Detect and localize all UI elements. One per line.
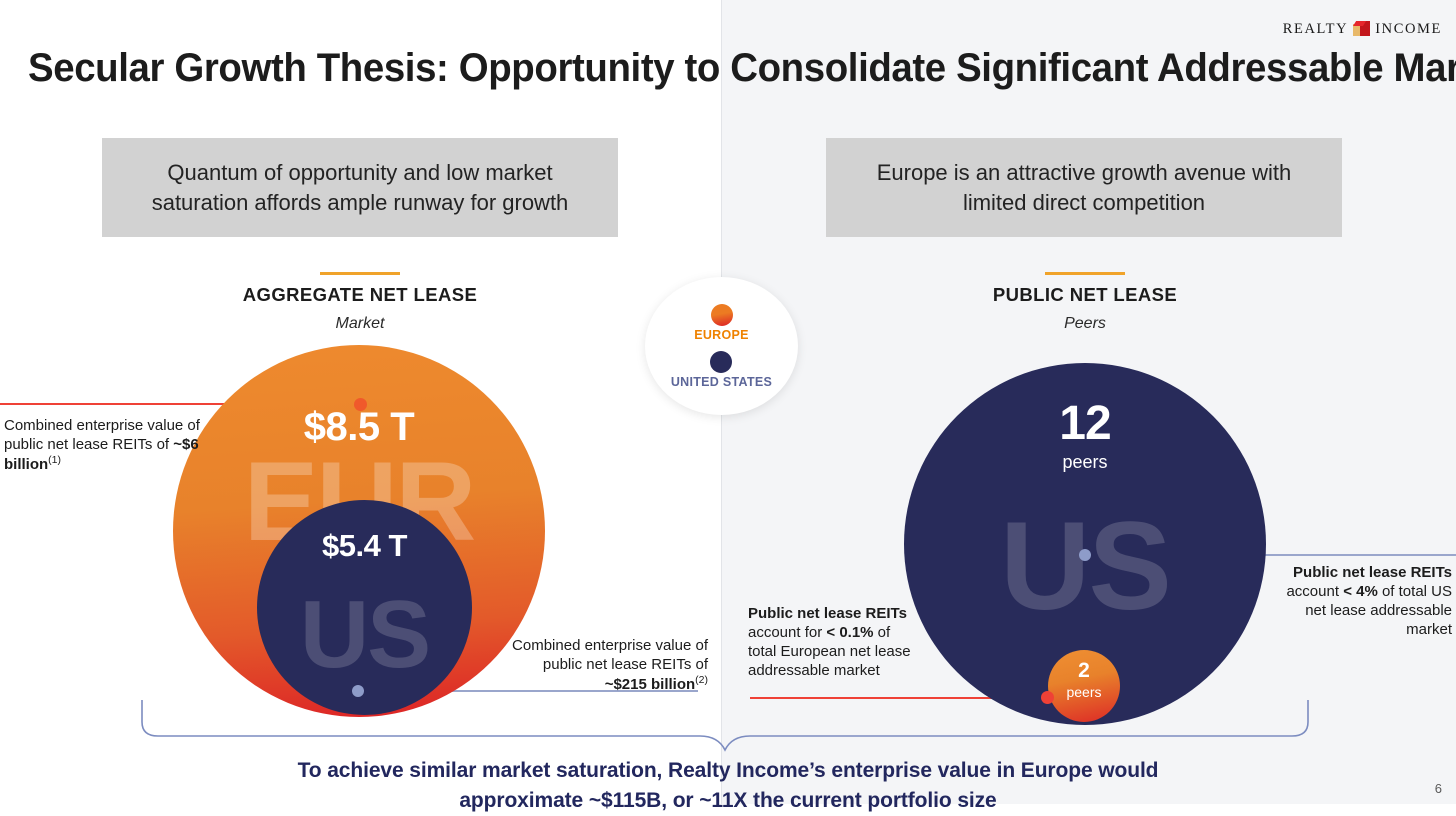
annotation-right-text-1: account: [1286, 583, 1343, 600]
annotation-bottom-left-bold: ~$215 billion: [605, 676, 695, 693]
leader-dot-top-left: [354, 398, 367, 411]
annotation-bottom-left-text: Combined enterprise value of public net …: [512, 637, 708, 673]
annotation-center-bold-2: < 0.1%: [826, 624, 873, 641]
legend-item-europe: EUROPE: [694, 304, 749, 342]
annotation-bottom-left: Combined enterprise value of public net …: [512, 636, 708, 694]
annotation-bottom-left-footnote: (2): [695, 674, 708, 686]
realty-income-logo[interactable]: REALTY INCOME: [1283, 21, 1442, 38]
annotation-right: Public net lease REITs account < 4% of t…: [1274, 563, 1452, 639]
section-subheading-left: Market: [160, 315, 560, 333]
annotation-right-bold-1: Public net lease REITs: [1293, 564, 1452, 581]
europe-peers-unit: peers: [1048, 684, 1120, 700]
europe-peers-count: 2: [1048, 659, 1120, 683]
annotation-top-left-text: Combined enterprise value of public net …: [4, 417, 200, 453]
legend-label-united-states: UNITED STATES: [671, 375, 772, 389]
europe-market-value: $8.5 T: [173, 405, 545, 450]
annotation-top-left-footnote: (1): [48, 454, 61, 466]
cube-icon: [1353, 21, 1370, 38]
section-rule-left: [320, 272, 400, 275]
callout-left: Quantum of opportunity and low market sa…: [102, 138, 618, 237]
annotation-center-bold-1: Public net lease REITs: [748, 605, 907, 622]
summary-bracket: [140, 700, 1310, 762]
section-heading-right: PUBLIC NET LEASE: [885, 284, 1285, 306]
us-peers-count: 12: [904, 396, 1266, 451]
logo-text-realty: REALTY: [1283, 21, 1348, 38]
annotation-right-bold-2: < 4%: [1343, 583, 1378, 600]
slide-canvas: REALTY INCOME Secular Growth Thesis: Opp…: [0, 0, 1456, 804]
conclusion-text: To achieve similar market saturation, Re…: [240, 756, 1216, 816]
callout-right: Europe is an attractive growth avenue wi…: [826, 138, 1342, 237]
legend-item-united-states: UNITED STATES: [671, 351, 772, 389]
united-states-dot-icon: [710, 351, 732, 373]
us-peers-unit: peers: [904, 452, 1266, 473]
section-subheading-right: Peers: [885, 315, 1285, 333]
section-rule-right: [1045, 272, 1125, 275]
section-heading-left: AGGREGATE NET LEASE: [160, 284, 560, 306]
legend-label-europe: EUROPE: [694, 328, 749, 342]
page-number: 6: [1435, 781, 1442, 796]
page-title: Secular Growth Thesis: Opportunity to Co…: [28, 46, 1372, 91]
legend: EUROPE UNITED STATES: [645, 277, 798, 415]
logo-text-income: INCOME: [1375, 21, 1442, 38]
leader-dot-right: [1079, 549, 1091, 561]
leader-dot-bottom-left: [352, 685, 364, 697]
us-market-value: $5.4 T: [257, 528, 472, 564]
europe-dot-icon: [711, 304, 733, 326]
annotation-top-left: Combined enterprise value of public net …: [4, 416, 204, 474]
annotation-center-text-1: account for: [748, 624, 826, 641]
annotation-center: Public net lease REITs account for < 0.1…: [748, 604, 916, 680]
